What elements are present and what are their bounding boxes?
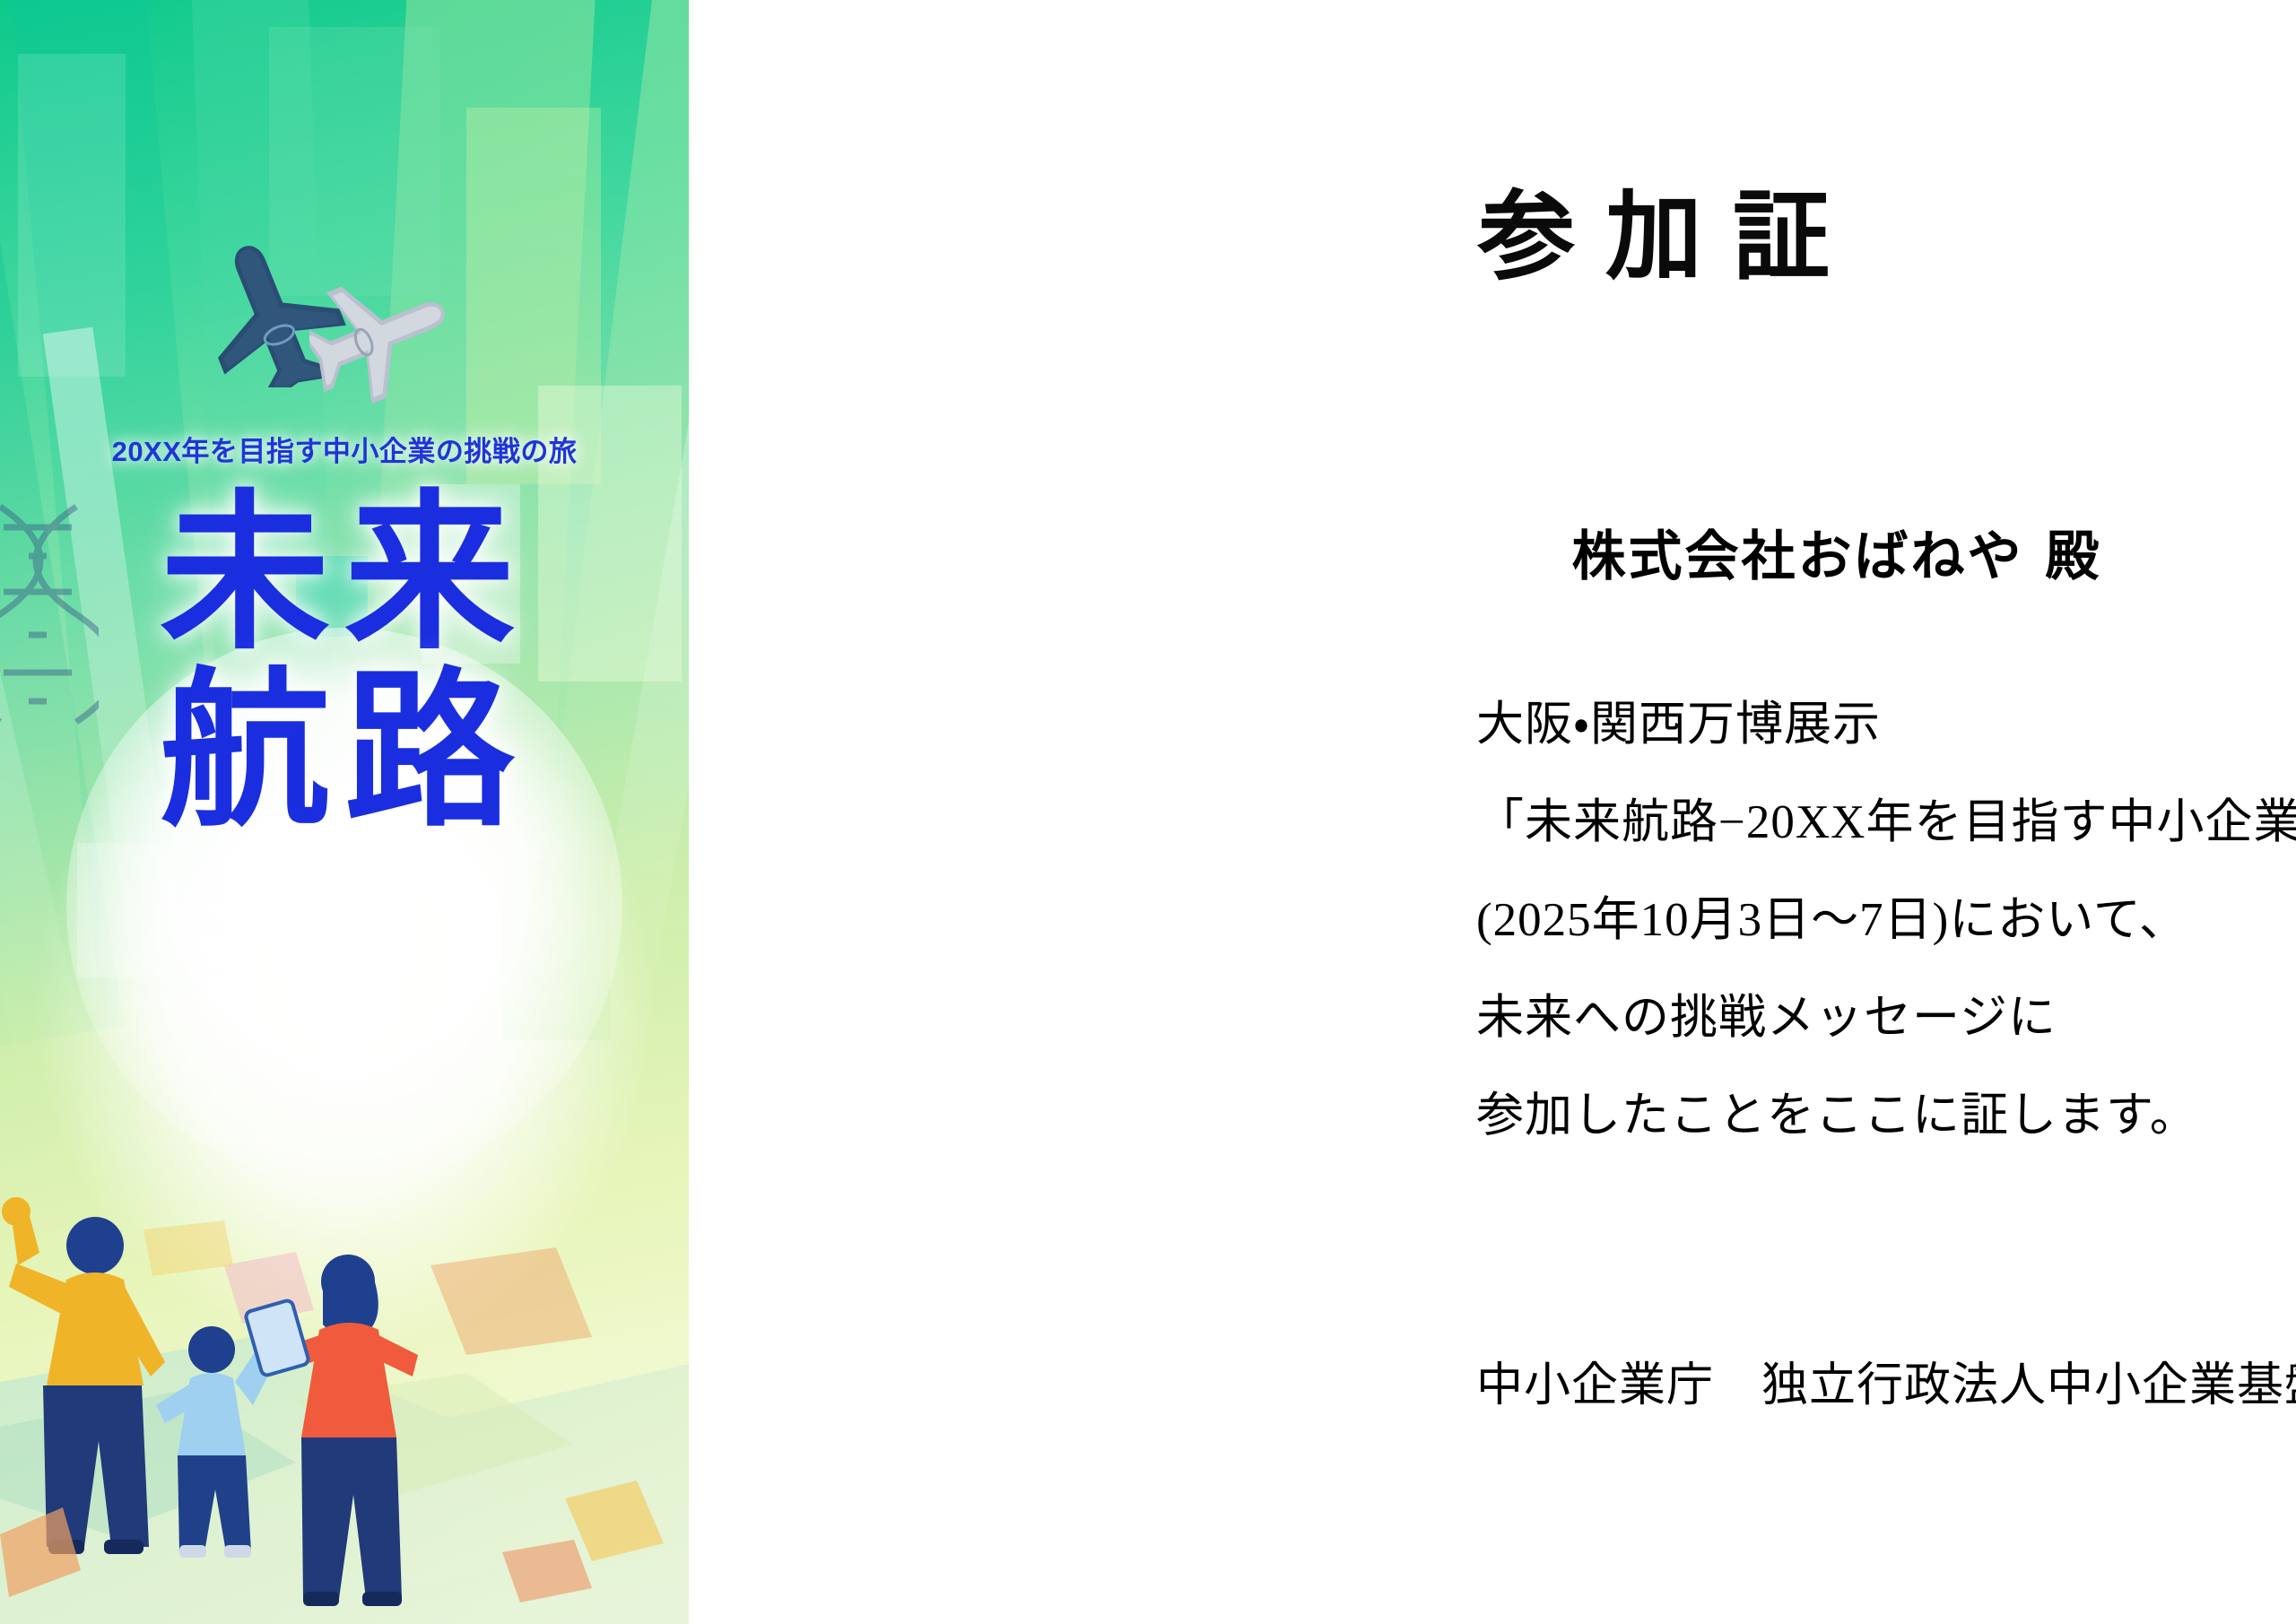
body-line: 「未来航路−20XX年を目指す中小企業の挑戦の旅−」 [1476, 799, 2296, 847]
certificate-body: 大阪・関西万博展示 「未来航路−20XX年を目指す中小企業の挑戦の旅−」 (20… [1476, 701, 2296, 1190]
poster-subtitle: 20XX年を目指す中小企業の挑戦の旅 [0, 429, 689, 469]
poster-title: 未来 航路 [0, 489, 689, 837]
issuing-organizations: 中小企業庁 独立行政法人中小企業基盤整備機構 [1476, 1347, 2296, 1414]
poster-edge [680, 0, 689, 1624]
body-line: 未来への挑戦メッセージに [1476, 994, 2296, 1042]
airplane-icon-light [309, 269, 462, 404]
body-line: 参加したことをここに証します。 [1476, 1092, 2296, 1140]
recipient-row: 株式会社おばねや 殿 [1378, 513, 2296, 591]
body-line: 大阪・関西万博展示 [1476, 701, 2296, 749]
poster-panel: 20XX年を目指す中小企業の挑戦の旅 未来 航路 [0, 0, 689, 1624]
poster-title-line-2: 航路 [0, 666, 689, 837]
poster-block [18, 54, 126, 377]
page-title: 参加証 [1478, 190, 1860, 287]
certificate-panel: 参加証 [689, 0, 2296, 1624]
certificate-page: 20XX年を目指す中小企業の挑戦の旅 未来 航路 [0, 0, 2296, 1624]
recipient-name: 株式会社おばねや 殿 [1378, 513, 2296, 591]
poster-title-line-1: 未来 [0, 489, 689, 659]
family-illustration [0, 996, 689, 1624]
body-line: (2025年10月3日〜7日)において、 [1476, 897, 2296, 944]
